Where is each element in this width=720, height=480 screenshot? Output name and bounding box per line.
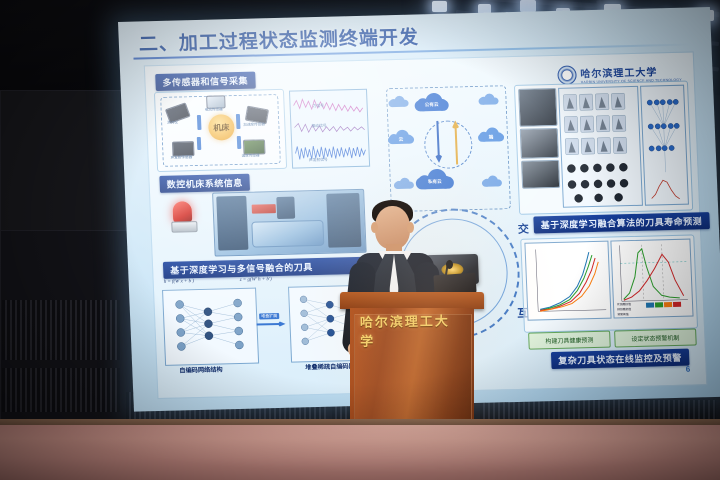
stage-floor-light bbox=[0, 425, 720, 480]
plot-legend: 预测磨损值 bbox=[617, 307, 631, 311]
autoencoder-graph bbox=[163, 289, 258, 365]
section-header-cnc: 数控机床系统信息 bbox=[159, 174, 250, 193]
cloud-label: 云 bbox=[388, 136, 414, 143]
cnc-part bbox=[252, 204, 276, 214]
equipment-photo bbox=[520, 128, 559, 159]
signal-label: 声发射信号 bbox=[309, 158, 328, 163]
connector-bar bbox=[197, 115, 202, 130]
equipment-photo bbox=[521, 160, 560, 189]
section-header-monitor: 复杂刀具状态在线监控及预警 bbox=[551, 349, 689, 369]
cnc-spindle bbox=[276, 197, 295, 219]
section-header-life: 基于深度学习融合算法的刀具寿命预测 bbox=[533, 212, 709, 233]
connector-bar bbox=[237, 136, 242, 149]
cnc-bed bbox=[251, 220, 324, 248]
wear-trend-plot bbox=[524, 241, 611, 321]
cloud-icon-private: 私有云 bbox=[415, 169, 454, 190]
result-button-health[interactable]: 构建刀具健康预测 bbox=[528, 331, 611, 350]
signal-waveforms bbox=[290, 90, 369, 168]
sensor-label: 声发射传感器 bbox=[171, 155, 193, 161]
signal-label: 力信号 bbox=[313, 104, 325, 109]
formula-encoder: h = f(W x + b ) bbox=[164, 279, 195, 285]
signal-label: 振动信号 bbox=[311, 124, 326, 129]
cloud-icon-edge: 端 bbox=[478, 127, 505, 142]
speaker-head bbox=[375, 206, 410, 249]
cloud-label: 端 bbox=[478, 134, 504, 141]
speaker-ear bbox=[407, 222, 414, 233]
prediction-network bbox=[640, 85, 689, 206]
autoencoder-caption: 自编码网络结构 bbox=[179, 364, 223, 374]
alarm-beacon-icon bbox=[172, 201, 192, 222]
cloud-icon-public: 公有云 bbox=[414, 93, 449, 112]
cloud-label: 私有云 bbox=[416, 178, 454, 185]
podium-top bbox=[340, 292, 484, 309]
cloud-icon-decorative bbox=[388, 96, 408, 107]
wear-trend-curves bbox=[525, 242, 610, 320]
cnc-column bbox=[216, 196, 248, 251]
signal-plots bbox=[289, 89, 370, 169]
connector-bar bbox=[197, 137, 202, 150]
section-header-sensor: 多传感器和信号采集 bbox=[155, 72, 255, 92]
alarm-beacon-base bbox=[171, 221, 197, 233]
plot-legend: 预警阈值 bbox=[617, 312, 628, 316]
cloud-icon-decorative bbox=[482, 175, 502, 186]
tool-analysis-matrix bbox=[558, 86, 643, 208]
microphone-icon bbox=[446, 260, 453, 269]
sensor-label: 测力仪 bbox=[167, 121, 178, 126]
equipment-photo bbox=[518, 88, 558, 127]
cloud-icon-decorative bbox=[394, 178, 414, 189]
arrow-right-icon bbox=[256, 321, 286, 328]
sensor-label: 电流传感器 bbox=[205, 107, 223, 112]
cloud-icon-decorative bbox=[478, 93, 498, 104]
ring-term: 交 bbox=[517, 221, 529, 237]
speaker-ear bbox=[371, 222, 378, 233]
formula-decoder: z = g(W' h + b') bbox=[240, 277, 272, 283]
cloud-icon-cloud: 云 bbox=[388, 130, 415, 145]
cloud-label: 公有云 bbox=[415, 101, 449, 108]
prediction-net-graph bbox=[641, 86, 688, 205]
podium-university-text: 哈尔滨理工大学 bbox=[360, 317, 464, 343]
sensor-icon bbox=[243, 139, 266, 155]
wall-grille bbox=[2, 368, 120, 412]
tool-wear-thumbnails bbox=[559, 87, 642, 207]
sensor-label: 温度传感器 bbox=[242, 153, 260, 158]
autoencoder-diagram bbox=[162, 288, 259, 366]
plot-legend: 实测磨损值 bbox=[617, 302, 631, 306]
result-button-warning[interactable]: 设定状态预警机制 bbox=[614, 328, 697, 347]
university-seal-icon bbox=[557, 65, 577, 84]
stage-light bbox=[432, 1, 447, 12]
step-label: 堆叠扩展 bbox=[259, 313, 279, 320]
sensor-label: 加速度传感器 bbox=[243, 122, 265, 128]
wall-grille bbox=[2, 300, 120, 360]
connector-bar bbox=[236, 114, 241, 129]
lecture-hall-photo: 二、加工过程状态监测终端开发 哈尔滨理工大学 HARBIN UNIVERSITY… bbox=[0, 0, 720, 480]
slide-page-number: 6 bbox=[686, 365, 691, 374]
